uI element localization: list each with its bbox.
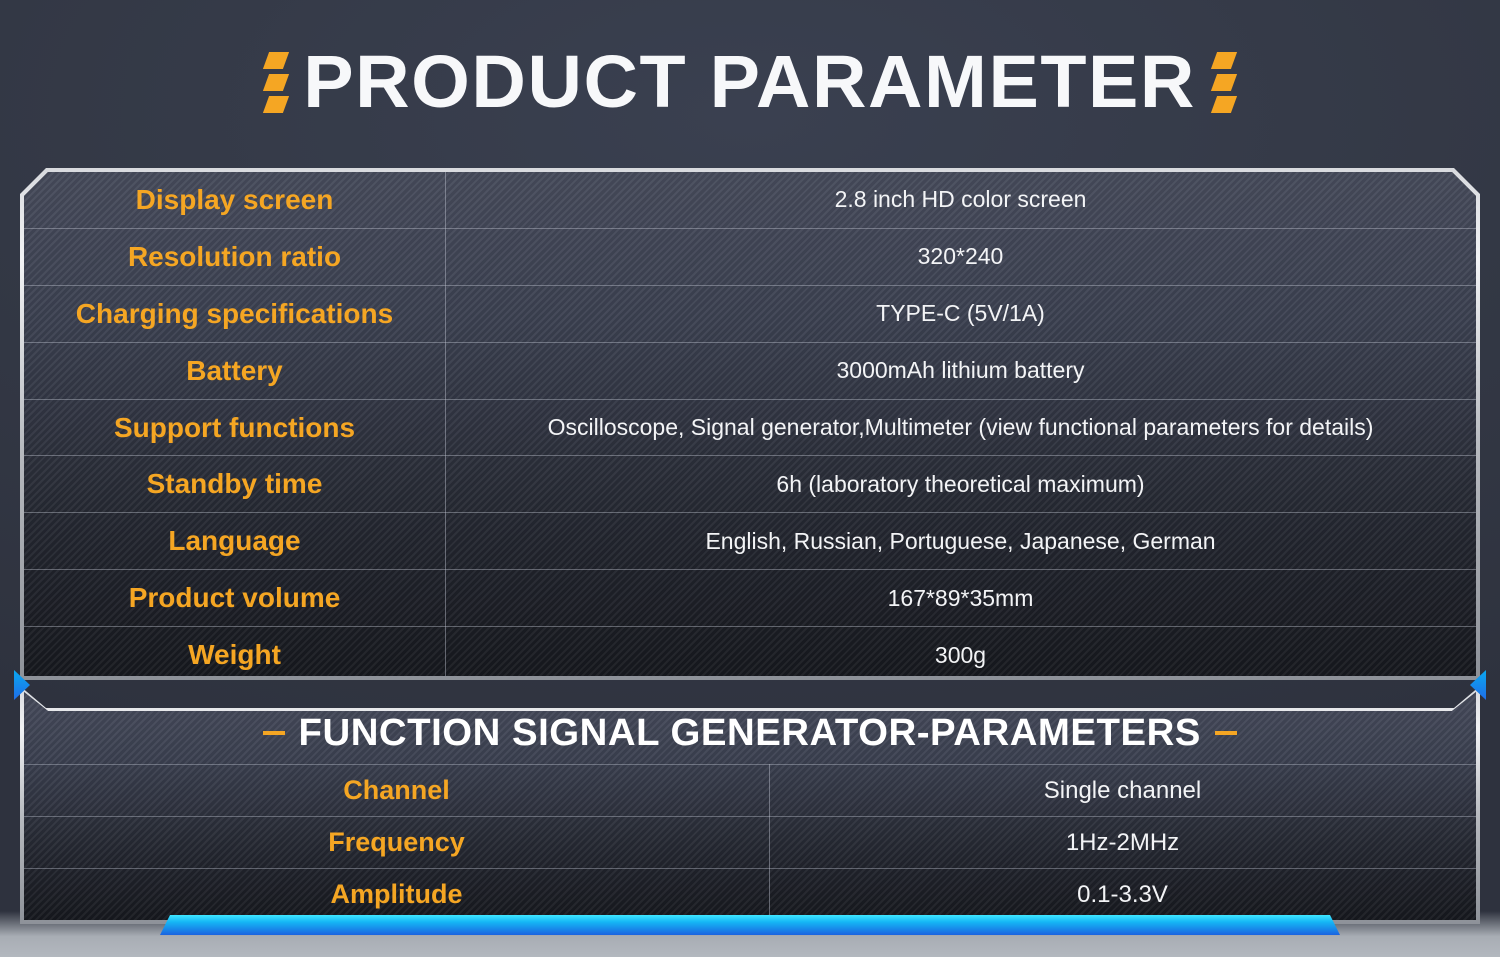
spec-value: Single channel <box>769 777 1476 805</box>
spec-label: Display screen <box>24 184 445 216</box>
page-title: PRODUCT PARAMETER <box>304 45 1197 119</box>
fsg-section-title: FUNCTION SIGNAL GENERATOR-PARAMETERS <box>299 712 1201 755</box>
spec-value: 167*89*35mm <box>445 585 1476 612</box>
spec-label: Charging specifications <box>24 298 445 330</box>
table-row: Charging specificationsTYPE-C (5V/1A) <box>24 286 1476 343</box>
spec-value: TYPE-C (5V/1A) <box>445 300 1476 327</box>
specifications-table: Display screen2.8 inch HD color screenRe… <box>24 172 1476 676</box>
table-row: Display screen2.8 inch HD color screen <box>24 172 1476 229</box>
spec-value: English, Russian, Portuguese, Japanese, … <box>445 528 1476 555</box>
dash-right-icon <box>1215 731 1237 735</box>
spec-label: Channel <box>24 775 769 806</box>
table-row: Frequency1Hz-2MHz <box>24 816 1476 868</box>
table-row: Weight300g <box>24 627 1476 676</box>
spec-label: Product volume <box>24 582 445 614</box>
spec-label: Language <box>24 525 445 557</box>
page-header: PRODUCT PARAMETER <box>0 22 1500 142</box>
fsg-panel-surface: FUNCTION SIGNAL GENERATOR-PARAMETERS Cha… <box>24 690 1476 920</box>
table-row: Battery3000mAh lithium battery <box>24 343 1476 400</box>
slash-stripes-right-icon <box>1214 52 1234 113</box>
spec-value: 3000mAh lithium battery <box>445 357 1476 384</box>
table-row: Standby time6h (laboratory theoretical m… <box>24 456 1476 513</box>
spec-value: 300g <box>445 642 1476 669</box>
spec-label: Frequency <box>24 827 769 858</box>
slash-stripes-left-icon <box>266 52 286 113</box>
table-row: Product volume167*89*35mm <box>24 570 1476 627</box>
spec-label: Resolution ratio <box>24 241 445 273</box>
spec-label: Support functions <box>24 412 445 444</box>
spec-label: Weight <box>24 639 445 671</box>
spec-value: 1Hz-2MHz <box>769 829 1476 857</box>
table-row: ChannelSingle channel <box>24 764 1476 816</box>
spec-value: 0.1-3.3V <box>769 881 1476 909</box>
table-row: Resolution ratio320*240 <box>24 229 1476 286</box>
specifications-panel: Display screen2.8 inch HD color screenRe… <box>20 168 1480 680</box>
fsg-table: ChannelSingle channelFrequency1Hz-2MHzAm… <box>24 764 1476 920</box>
specifications-panel-surface: Display screen2.8 inch HD color screenRe… <box>24 172 1476 676</box>
function-signal-generator-panel: FUNCTION SIGNAL GENERATOR-PARAMETERS Cha… <box>20 686 1480 924</box>
spec-label: Standby time <box>24 468 445 500</box>
spec-label: Battery <box>24 355 445 387</box>
spec-value: 2.8 inch HD color screen <box>445 186 1476 213</box>
spec-label: Amplitude <box>24 879 769 910</box>
spec-value: Oscilloscope, Signal generator,Multimete… <box>445 414 1476 441</box>
table-row: Amplitude0.1-3.3V <box>24 868 1476 920</box>
dash-left-icon <box>263 731 285 735</box>
spec-value: 320*240 <box>445 243 1476 270</box>
bottom-glow-bar <box>160 915 1340 935</box>
table-row: LanguageEnglish, Russian, Portuguese, Ja… <box>24 513 1476 570</box>
spec-value: 6h (laboratory theoretical maximum) <box>445 471 1476 498</box>
table-row: Support functionsOscilloscope, Signal ge… <box>24 400 1476 457</box>
